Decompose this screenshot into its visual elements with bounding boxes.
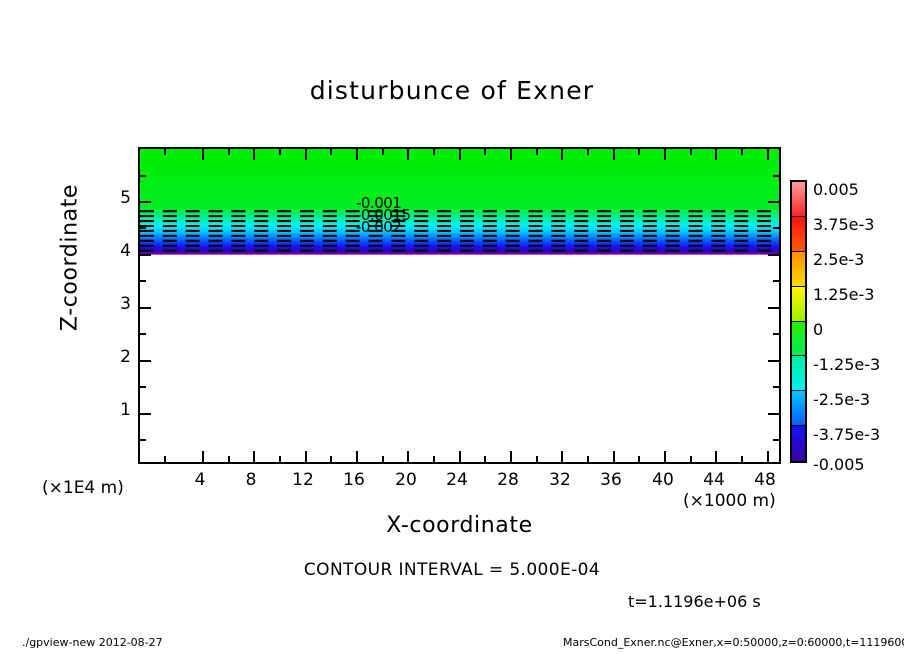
xtick-label: 28 — [488, 470, 528, 490]
ytick-label: 4 — [101, 241, 131, 261]
contour-field — [140, 149, 779, 462]
colorbar-tick-label: 3.75e-3 — [813, 215, 874, 234]
xtick-label: 40 — [643, 470, 683, 490]
contour-label-group: -0.001 -0.0015 -0.002 — [356, 197, 410, 233]
plot-area: -0.001 -0.0015 -0.002 — [138, 147, 781, 464]
colorbar-tick-label: 0.005 — [813, 180, 859, 199]
colorbar-tick-label: -0.005 — [813, 455, 865, 474]
x-axis-unit: (×1000 m) — [683, 491, 776, 511]
contour-interval-note: CONTOUR INTERVAL = 5.000E-04 — [0, 560, 904, 580]
xtick-label: 24 — [437, 470, 477, 490]
xtick-label: 44 — [694, 470, 734, 490]
colorbar-tick-label: -2.5e-3 — [813, 390, 870, 409]
colorbar-tick-label: 0 — [813, 320, 823, 339]
colorbar-band — [792, 322, 805, 357]
ytick-label: 2 — [101, 347, 131, 367]
time-annotation: t=1.1196e+06 s — [628, 592, 761, 611]
page-title: disturbunce of Exner — [0, 76, 904, 105]
colorbar — [790, 180, 807, 463]
colorbar-band — [792, 356, 805, 391]
ytick-label: 3 — [101, 294, 131, 314]
colorbar-band — [792, 426, 805, 461]
ytick-label: 1 — [101, 400, 131, 420]
colorbar-tick-label: -1.25e-3 — [813, 355, 880, 374]
colorbar-band — [792, 252, 805, 287]
xtick-label: 4 — [180, 470, 220, 490]
xtick-label: 8 — [231, 470, 271, 490]
xtick-label: 16 — [334, 470, 374, 490]
colorbar-tick-label: 2.5e-3 — [813, 250, 864, 269]
colorbar-band — [792, 182, 805, 217]
xtick-label: 36 — [591, 470, 631, 490]
y-axis-unit: (×1E4 m) — [42, 478, 124, 498]
colorbar-tick-label: 1.25e-3 — [813, 285, 874, 304]
footer-command: ./gpview-new 2012-08-27 — [22, 636, 163, 649]
colorbar-band — [792, 287, 805, 322]
xtick-label: 48 — [745, 470, 785, 490]
footer-source: MarsCond_Exner.nc@Exner,x=0:50000,z=0:60… — [563, 636, 904, 649]
colorbar-band — [792, 391, 805, 426]
xtick-label: 12 — [283, 470, 323, 490]
x-axis-label: X-coordinate — [138, 513, 781, 538]
colorbar-band — [792, 217, 805, 252]
colorbar-tick-label: -3.75e-3 — [813, 425, 880, 444]
xtick-label: 20 — [386, 470, 426, 490]
y-axis-label: Z-coordinate — [58, 148, 83, 368]
xtick-label: 32 — [540, 470, 580, 490]
ytick-label: 5 — [101, 188, 131, 208]
